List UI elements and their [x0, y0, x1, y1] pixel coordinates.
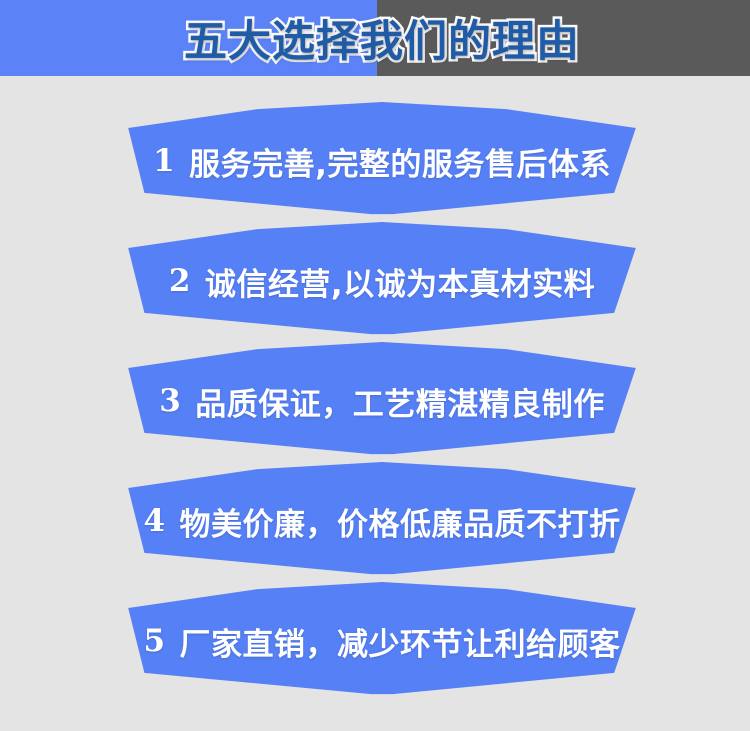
banner-text-3: 3 品质保证，工艺精湛精良制作	[112, 342, 652, 460]
reason-banner-5: 5 厂家直销，减少环节让利给顾客	[112, 582, 652, 700]
banner-text-5: 5 厂家直销，减少环节让利给顾客	[112, 582, 652, 700]
banner-label-1: 服务完善,完整的服务售后体系	[189, 139, 611, 184]
banner-text-4: 4 物美价廉，价格低廉品质不打折	[112, 462, 652, 580]
reason-banner-4: 4 物美价廉，价格低廉品质不打折	[112, 462, 652, 580]
promo-page: 五大选择我们的理由 1 服务完善,完整的服务售后体系 2 诚信经营,以诚为本真材…	[0, 0, 750, 731]
banner-index-5: 5	[143, 623, 165, 659]
banner-text-1: 1 服务完善,完整的服务售后体系	[112, 102, 652, 220]
page-title: 五大选择我们的理由	[0, 0, 750, 76]
banner-label-3: 品质保证，工艺精湛精良制作	[195, 379, 605, 424]
banner-text-2: 2 诚信经营,以诚为本真材实料	[112, 222, 652, 340]
banner-label-4: 物美价廉，价格低廉品质不打折	[180, 499, 621, 544]
banner-label-5: 厂家直销，减少环节让利给顾客	[180, 619, 621, 664]
reason-banner-3: 3 品质保证，工艺精湛精良制作	[112, 342, 652, 460]
banner-index-4: 4	[143, 503, 165, 539]
reason-banner-1: 1 服务完善,完整的服务售后体系	[112, 102, 652, 220]
banner-index-3: 3	[159, 383, 181, 419]
reason-banner-2: 2 诚信经营,以诚为本真材实料	[112, 222, 652, 340]
banner-index-2: 2	[169, 263, 191, 299]
reasons-list: 1 服务完善,完整的服务售后体系 2 诚信经营,以诚为本真材实料 3 品质保证，…	[0, 80, 750, 731]
banner-label-2: 诚信经营,以诚为本真材实料	[205, 259, 595, 304]
banner-index-1: 1	[153, 143, 175, 179]
page-header: 五大选择我们的理由	[0, 0, 750, 76]
